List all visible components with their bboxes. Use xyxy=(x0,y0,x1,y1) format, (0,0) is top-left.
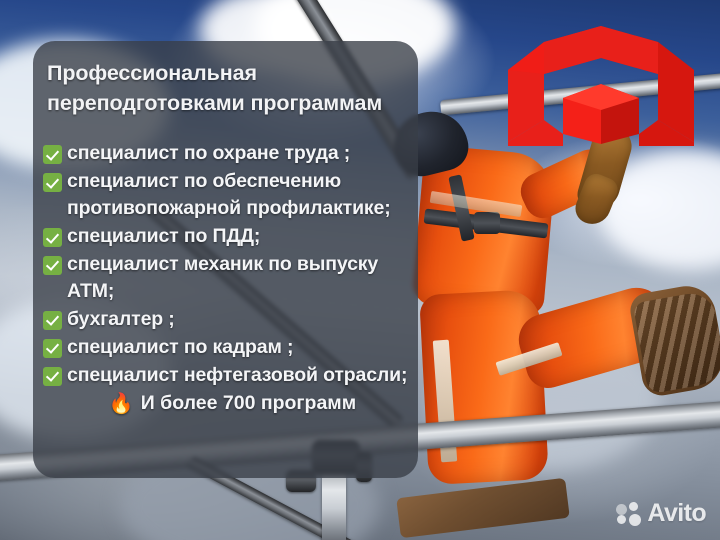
list-item: специалист по кадрам ; xyxy=(43,334,408,361)
list-item: специалист механик по выпуску АТМ; xyxy=(43,251,408,305)
list-item: специалист по обеспечению противопожарно… xyxy=(43,168,408,222)
programs-count-line: 🔥 И более 700 программ xyxy=(43,392,408,415)
list-item: бухгалтер ; xyxy=(43,306,408,333)
list-item-label: специалист по кадрам ; xyxy=(67,334,408,361)
list-item-label: специалист по обеспечению противопожарно… xyxy=(67,168,408,222)
check-icon xyxy=(43,256,62,275)
list-item: специалист по ПДД; xyxy=(43,223,408,250)
check-icon xyxy=(43,228,62,247)
list-item: специалист нефтегазовой отрасли; xyxy=(43,362,408,389)
avito-watermark: Avito xyxy=(616,499,706,528)
check-icon xyxy=(43,173,62,192)
advertisement-image: Профессиональная переподготовками програ… xyxy=(0,0,720,540)
list-item-label: бухгалтер ; xyxy=(67,306,408,333)
list-item: специалист по охране труда ; xyxy=(43,140,408,167)
check-icon xyxy=(43,339,62,358)
boot-sole-tread xyxy=(633,290,720,394)
fire-icon: 🔥 xyxy=(109,394,134,414)
check-icon xyxy=(43,367,62,386)
programs-count-label: И более 700 программ xyxy=(141,392,356,415)
safety-harness-buckle xyxy=(474,212,500,234)
check-icon xyxy=(43,311,62,330)
list-item-label: специалист по охране труда ; xyxy=(67,140,408,167)
avito-logo-icon xyxy=(616,502,642,526)
list-item-label: специалист нефтегазовой отрасли; xyxy=(67,362,408,389)
program-list: специалист по охране труда ; специалист … xyxy=(43,140,408,388)
list-item-label: специалист по ПДД; xyxy=(67,223,408,250)
company-logo xyxy=(506,24,696,148)
offer-text-panel: Профессиональная переподготовками програ… xyxy=(33,41,418,478)
page-title: Профессиональная переподготовками програ… xyxy=(43,59,408,118)
avito-wordmark: Avito xyxy=(647,499,706,528)
check-icon xyxy=(43,145,62,164)
list-item-label: специалист механик по выпуску АТМ; xyxy=(67,251,408,305)
